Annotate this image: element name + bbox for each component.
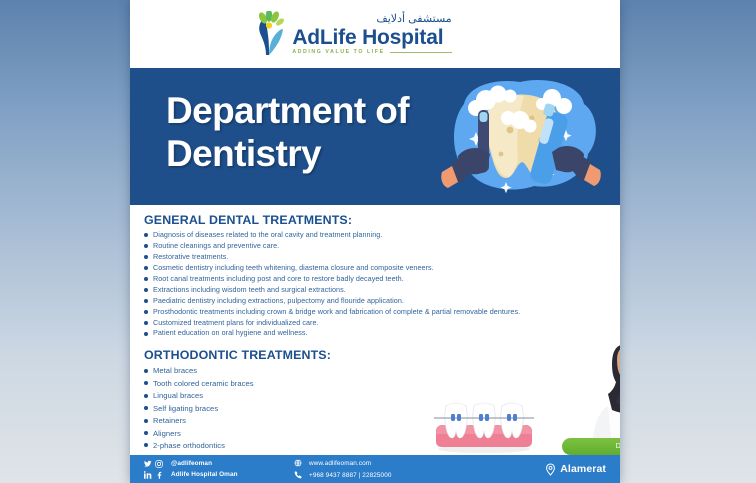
- social-page-name: Adlife Hospital Oman: [171, 471, 238, 478]
- list-item: Routine cleanings and preventive care.: [144, 241, 620, 252]
- hero-banner: Department of Dentistry: [130, 68, 620, 205]
- poster-stage: مستشفى أدلايف AdLife Hospital ADDING VAL…: [0, 0, 756, 483]
- dentistry-team-photo: Department of Dentistry: [562, 330, 620, 455]
- adlife-logo-text: مستشفى أدلايف AdLife Hospital ADDING VAL…: [292, 14, 451, 57]
- globe-icon: [294, 459, 302, 467]
- section-heading-general: GENERAL DENTAL TREATMENTS:: [144, 213, 620, 227]
- list-item: Extractions including wisdom teeth and s…: [144, 285, 620, 296]
- facebook-icon: [155, 471, 163, 479]
- poster-footer: @adlifeoman Adlife Hospital Oman: [130, 455, 620, 483]
- logo-arabic-name: مستشفى أدلايف: [292, 14, 451, 27]
- social-handle-icons: [144, 460, 167, 468]
- list-item: Patient education on oral hygiene and we…: [144, 328, 620, 339]
- footer-social-page-row[interactable]: Adlife Hospital Oman: [144, 469, 294, 480]
- braces-teeth-icon: [426, 392, 542, 454]
- website-url: www.adlifeoman.com: [309, 460, 371, 467]
- footer-social-handle-row[interactable]: @adlifeoman: [144, 458, 294, 469]
- section-heading-orthodontic: ORTHODONTIC TREATMENTS:: [144, 348, 620, 362]
- location-pin-icon: [545, 463, 556, 476]
- list-item: Lingual braces: [144, 390, 620, 402]
- treatments-body: GENERAL DENTAL TREATMENTS: Diagnosis of …: [130, 205, 620, 417]
- poster-header: مستشفى أدلايف AdLife Hospital ADDING VAL…: [130, 0, 620, 68]
- list-item: Customized treatment plans for individua…: [144, 318, 620, 329]
- location-name: Alamerat: [560, 463, 606, 475]
- footer-contact: www.adlifeoman.com +968 9437 8887 | 2282…: [294, 457, 484, 481]
- logo-name: AdLife Hospital: [292, 27, 451, 48]
- list-item: Self ligating braces: [144, 403, 620, 415]
- list-item: Metal braces: [144, 365, 620, 377]
- list-item: Restorative treatments.: [144, 252, 620, 263]
- linkedin-icon: [144, 471, 152, 479]
- logo-tagline: ADDING VALUE TO LIFE: [292, 50, 384, 55]
- footer-phone-row[interactable]: +968 9437 8887 | 22825000: [294, 469, 484, 481]
- dentistry-poster: مستشفى أدلايف AdLife Hospital ADDING VAL…: [130, 0, 620, 483]
- phone-icon: [294, 471, 302, 479]
- list-item: 2-phase orthodontics: [144, 440, 620, 452]
- adlife-logo-mark-icon: [254, 11, 288, 57]
- instagram-icon: [155, 460, 163, 468]
- list-item: Tooth colored ceramic braces: [144, 378, 620, 390]
- list-item: Diagnosis of diseases related to the ora…: [144, 230, 620, 241]
- logo-tagline-row: ADDING VALUE TO LIFE: [292, 50, 451, 55]
- list-item: Cosmetic dentistry including teeth white…: [144, 263, 620, 274]
- twitter-icon: [144, 460, 152, 468]
- list-item: Root canal treatments including post and…: [144, 274, 620, 285]
- adlife-logo: مستشفى أدلايف AdLife Hospital ADDING VAL…: [254, 11, 451, 57]
- footer-location[interactable]: Alamerat: [545, 463, 606, 476]
- footer-website-row[interactable]: www.adlifeoman.com: [294, 457, 484, 469]
- team-badge-label: Department of Dentistry: [616, 443, 620, 450]
- footer-social: @adlifeoman Adlife Hospital Oman: [144, 458, 294, 480]
- phone-number: +968 9437 8887 | 22825000: [309, 472, 392, 479]
- list-item: Aligners: [144, 428, 620, 440]
- list-item: Paediatric dentistry including extractio…: [144, 296, 620, 307]
- list-item: Retainers: [144, 415, 620, 427]
- social-page-icons: [144, 471, 167, 479]
- list-item: Prosthodontic treatments including crown…: [144, 307, 620, 318]
- tooth-brushing-icon: [434, 74, 610, 200]
- team-badge: Department of Dentistry: [562, 438, 620, 455]
- general-treatments-list: Diagnosis of diseases related to the ora…: [130, 230, 620, 339]
- page-title: Department of Dentistry: [166, 90, 456, 176]
- logo-tagline-rule: [390, 52, 452, 53]
- social-handle: @adlifeoman: [171, 460, 212, 467]
